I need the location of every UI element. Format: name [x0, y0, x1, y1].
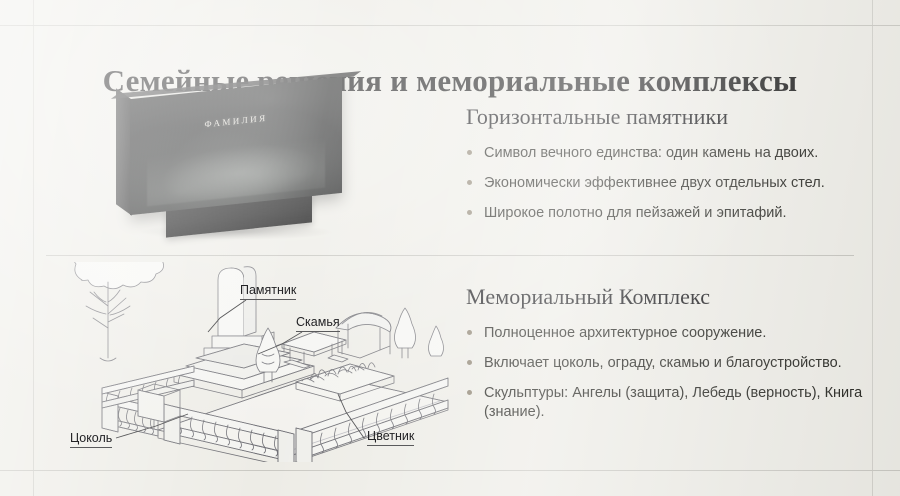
- diagram-label-tsvetnik: Цветник: [367, 429, 414, 443]
- diagram-label-tsokol: Цоколь: [70, 431, 112, 445]
- engraved-surname-text: ФАМИЛИЯ: [130, 105, 342, 137]
- bullet-item: Полноценное архитектурное сооружение.: [466, 324, 866, 343]
- section-heading-2: Мемориальный Комплекс: [466, 284, 866, 310]
- bullet-item: Широкое полотно для пейзажей и эпитафий.: [466, 204, 866, 223]
- diagram-label-pamyatnik: Памятник: [240, 283, 296, 297]
- tree: [72, 262, 163, 361]
- monument-slab: ФАМИЛИЯ: [130, 77, 342, 215]
- slide-canvas: Семейные решения и мемориальные комплекс…: [0, 0, 900, 496]
- diagram-label-skamya: Скамья: [296, 315, 340, 329]
- arbor: [336, 312, 391, 358]
- section-memorial-complex: Мемориальный Комплекс Полноценное архите…: [466, 284, 866, 432]
- bullet-item: Скульптуры: Ангелы (защита), Лебедь (вер…: [466, 384, 866, 422]
- bullet-item: Символ вечного единства: один камень на …: [466, 144, 866, 163]
- engraved-landscape: [147, 132, 325, 206]
- guide-line-bottom: [0, 470, 900, 471]
- horizontal-monument-photo: ФАМИЛИЯ: [108, 82, 368, 242]
- bullet-item: Включает цоколь, ограду, скамью и благоу…: [466, 354, 866, 373]
- bullet-item: Экономически эффективнее двух отдельных …: [466, 174, 866, 193]
- section-heading-1: Горизонтальные памятники: [466, 104, 866, 130]
- bullet-list-1: Символ вечного единства: один камень на …: [466, 144, 866, 223]
- bullet-list-2: Полноценное архитектурное сооружение. Вк…: [466, 324, 866, 421]
- section-horizontal-monuments: Горизонтальные памятники Символ вечного …: [466, 104, 866, 234]
- section-divider: [46, 255, 854, 256]
- guide-line-top: [0, 25, 900, 26]
